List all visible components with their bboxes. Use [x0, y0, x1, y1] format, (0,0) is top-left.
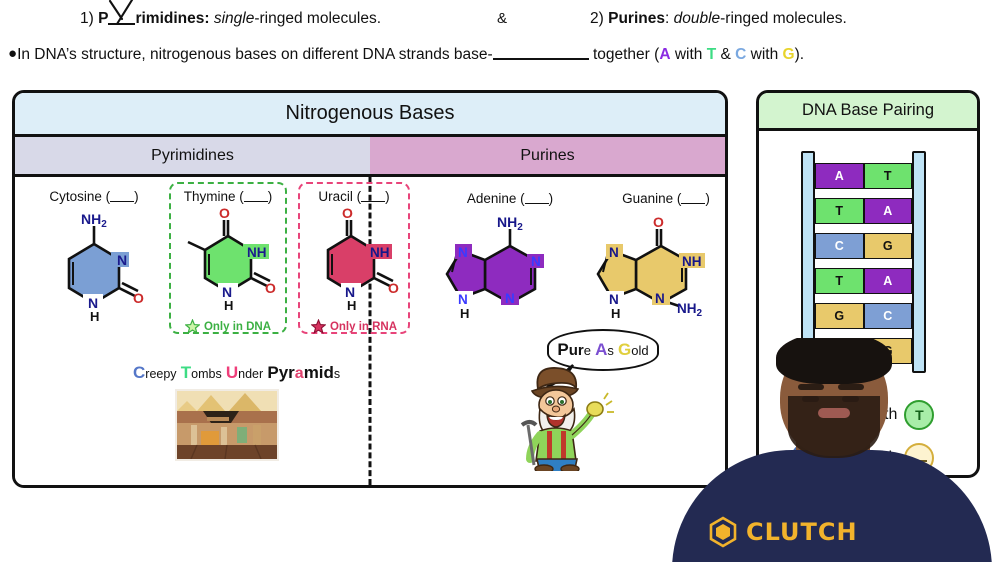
- svg-text:H: H: [224, 298, 233, 312]
- note-1-colon: :: [204, 10, 209, 27]
- notes-line-1: 1) Primidines: single-ringed molecules. …: [0, 8, 1000, 34]
- bubble-cap-g: G: [618, 340, 631, 359]
- rung-2-right-base: A: [864, 198, 913, 224]
- svg-text:N: N: [458, 292, 468, 307]
- thymine-dna-only-tag: Only in DNA: [171, 319, 285, 334]
- adenine-label: Adenine (): [435, 191, 585, 206]
- note-1-term-pre: P: [98, 10, 108, 27]
- base-A-inline: A: [659, 46, 670, 63]
- svg-text:N: N: [609, 292, 619, 307]
- bubble-rest-s: s: [607, 343, 614, 358]
- svg-text:O: O: [133, 290, 144, 306]
- pair-separator: &: [716, 46, 735, 63]
- base-pairing-title: DNA Base Pairing: [759, 93, 977, 131]
- svg-text:N: N: [609, 245, 619, 260]
- nitrogenous-bases-table: Nitrogenous Bases Pyrimidines Purines Cy…: [12, 90, 728, 488]
- adenine-blank[interactable]: [525, 193, 549, 204]
- adenine-label-close: ): [549, 191, 554, 206]
- svg-text:O: O: [388, 280, 399, 296]
- rung-1-left-base: A: [815, 163, 864, 189]
- svg-text:N: N: [505, 291, 515, 306]
- bubble-cap-p: P: [557, 340, 568, 359]
- thymine-label-close: ): [268, 189, 273, 204]
- table-column-headers: Pyrimidines Purines: [15, 137, 725, 177]
- note-item-purines: 2) Purines: double-ringed molecules.: [590, 10, 847, 28]
- presenter-brow-left: [798, 384, 824, 390]
- guanine-label-close: ): [705, 191, 710, 206]
- svg-text:NH: NH: [370, 245, 390, 260]
- star-filled-icon: [311, 319, 326, 334]
- svg-text:O: O: [653, 214, 664, 230]
- molecule-adenine: Adenine () NH2 N N N N H: [435, 191, 585, 329]
- presenter-hair: [776, 338, 892, 384]
- uracil-label-close: ): [385, 189, 390, 204]
- svg-text:O: O: [342, 205, 353, 221]
- uracil-tag-text: Only in RNA: [330, 321, 397, 333]
- rung-2: T A: [815, 198, 912, 224]
- rung-3: C G: [815, 233, 912, 259]
- prospector-illustration: [520, 365, 640, 471]
- note-2-emphasis: double: [674, 10, 721, 27]
- rung-3-left-base: C: [815, 233, 864, 259]
- svg-text:NH2: NH2: [677, 301, 703, 319]
- mnemonic-cap-u: U: [226, 363, 238, 382]
- hexagon-icon: [708, 516, 738, 548]
- uracil-label: Uracil (): [301, 189, 407, 204]
- base-pairing-blank[interactable]: [493, 46, 589, 60]
- note-1-desc: -ringed molecules.: [254, 10, 381, 27]
- thymine-label: Thymine (): [171, 189, 285, 204]
- guanine-name: Guanine (: [622, 191, 681, 206]
- pyrimidines-mnemonic: Creepy Tombs Under Pyramids: [133, 363, 340, 383]
- mnemonic-rest-pyr: yr: [279, 363, 295, 382]
- molecule-uracil: Uracil () O NH N H O Only in RNA: [301, 189, 407, 334]
- bubble-rest-ur: ur: [569, 342, 584, 359]
- cytosine-label-close: ): [134, 189, 139, 204]
- cartoon-prospector-holding-gold-icon: [520, 365, 640, 471]
- uracil-name: Uracil (: [318, 189, 361, 204]
- rung-1-right-base: T: [864, 163, 913, 189]
- rung-4: T A: [815, 268, 912, 294]
- svg-text:N: N: [531, 254, 541, 269]
- bullet-icon: ●: [8, 45, 17, 62]
- guanine-label: Guanine (): [591, 191, 728, 206]
- rung-5-right-base: C: [864, 303, 913, 329]
- table-title: Nitrogenous Bases: [15, 93, 725, 137]
- presenter-mouth: [818, 408, 850, 418]
- bullet-text-mid: together (: [589, 46, 660, 63]
- presenter-video-overlay[interactable]: CLUTCH: [660, 338, 1000, 562]
- mnemonic-cap-c: C: [133, 363, 145, 382]
- handwritten-y-icon: [106, 0, 136, 25]
- base-C-inline: C: [735, 46, 746, 63]
- mnemonic-rest-tombs: ombs: [191, 367, 222, 381]
- column-header-pyrimidines: Pyrimidines: [15, 137, 370, 174]
- pair2-with: with: [746, 46, 782, 63]
- thymine-name: Thymine (: [184, 189, 244, 204]
- bubble-e: e: [584, 343, 591, 358]
- note-1-term-post: rimidines: [135, 10, 204, 27]
- bubble-rest-old: old: [631, 343, 648, 358]
- pyrimidines-blank[interactable]: [108, 10, 135, 25]
- bubble-mnemonic: Pure As Gold: [557, 340, 648, 360]
- svg-text:H: H: [90, 309, 99, 322]
- adenine-structure-icon: NH2 N N N N H: [435, 206, 585, 324]
- molecule-cytosine: Cytosine () N N H NH2 O: [29, 189, 159, 327]
- bullet-text-pre: In DNA’s structure, nitrogenous bases on…: [17, 46, 493, 63]
- bubble-cap-a: A: [595, 340, 607, 359]
- note-conjunction: &: [497, 10, 507, 27]
- table-body: Cytosine () N N H NH2 O Thymine (): [15, 177, 725, 485]
- svg-text:N: N: [655, 291, 665, 306]
- mnemonic-cap-p: P: [267, 363, 278, 382]
- rung-4-right-base: A: [864, 268, 913, 294]
- thymine-blank[interactable]: [244, 191, 268, 202]
- pair1-with: with: [671, 46, 707, 63]
- adenine-name: Adenine (: [467, 191, 525, 206]
- column-header-purines: Purines: [370, 137, 725, 174]
- note-2-term: Purines: [608, 10, 665, 27]
- mnemonic-rest-under: nder: [238, 367, 263, 381]
- lecture-notes: 1) Primidines: single-ringed molecules. …: [0, 0, 1000, 82]
- star-outline-icon: [185, 319, 200, 334]
- note-2-number: 2): [590, 10, 604, 27]
- cytosine-structure-icon: N N H NH2 O: [29, 204, 159, 322]
- note-1-number: 1): [80, 10, 94, 27]
- guanine-structure-icon: O NH N N N H NH2: [591, 206, 728, 324]
- svg-text:H: H: [347, 298, 356, 312]
- mnemonic-pyramids-mid: mid: [304, 363, 334, 382]
- molecule-thymine: Thymine () O NH N H O Only in DNA: [171, 189, 285, 334]
- cytosine-name: Cytosine (: [49, 189, 110, 204]
- uracil-rna-only-tag: Only in RNA: [301, 319, 407, 334]
- svg-text:H: H: [611, 306, 620, 321]
- rung-5-left-base: G: [815, 303, 864, 329]
- rung-5: G C: [815, 303, 912, 329]
- presenter-brow-right: [838, 384, 864, 390]
- shirt-logo: CLUTCH: [708, 516, 858, 548]
- note-1-emphasis: single: [214, 10, 255, 27]
- rung-4-left-base: T: [815, 268, 864, 294]
- note-2-desc: -ringed molecules.: [720, 10, 847, 27]
- uracil-structure-icon: O NH N H O: [301, 204, 407, 312]
- svg-text:H: H: [460, 306, 469, 321]
- cytosine-label: Cytosine (): [29, 189, 159, 204]
- rung-2-left-base: T: [815, 198, 864, 224]
- thymine-structure-icon: O NH N H O: [171, 204, 285, 312]
- base-G-inline: G: [783, 46, 795, 63]
- mnemonic-pyramids-a: a: [295, 365, 304, 382]
- cytosine-blank[interactable]: [110, 191, 134, 202]
- rung-1: A T: [815, 163, 912, 189]
- svg-text:NH: NH: [682, 254, 702, 269]
- mnemonic-rest-creepy: reepy: [145, 367, 176, 381]
- uracil-blank[interactable]: [361, 191, 385, 202]
- svg-text:O: O: [219, 205, 230, 221]
- molecule-guanine: Guanine () O NH N N N H NH2: [591, 191, 728, 329]
- bullet-text-close: ).: [795, 46, 804, 63]
- shirt-logo-text: CLUTCH: [746, 518, 858, 546]
- svg-text:N: N: [117, 252, 127, 268]
- rung-3-right-base: G: [864, 233, 913, 259]
- mnemonic-pyramids-s: s: [334, 367, 340, 381]
- svg-text:O: O: [265, 280, 276, 296]
- note-2-colon: :: [665, 10, 669, 27]
- notes-line-2: ●In DNA’s structure, nitrogenous bases o…: [8, 45, 998, 64]
- egyptian-tomb-illustration-icon: [177, 391, 277, 459]
- pyramid-tomb-image: [175, 389, 279, 461]
- svg-text:NH: NH: [247, 245, 267, 260]
- thymine-tag-text: Only in DNA: [204, 321, 271, 333]
- presenter-beard: [788, 396, 880, 458]
- mnemonic-cap-t: T: [181, 363, 191, 382]
- guanine-blank[interactable]: [681, 193, 705, 204]
- note-item-pyrimidines: 1) Primidines: single-ringed molecules.: [80, 10, 381, 28]
- base-T-inline: T: [707, 46, 716, 63]
- svg-text:N: N: [458, 245, 468, 260]
